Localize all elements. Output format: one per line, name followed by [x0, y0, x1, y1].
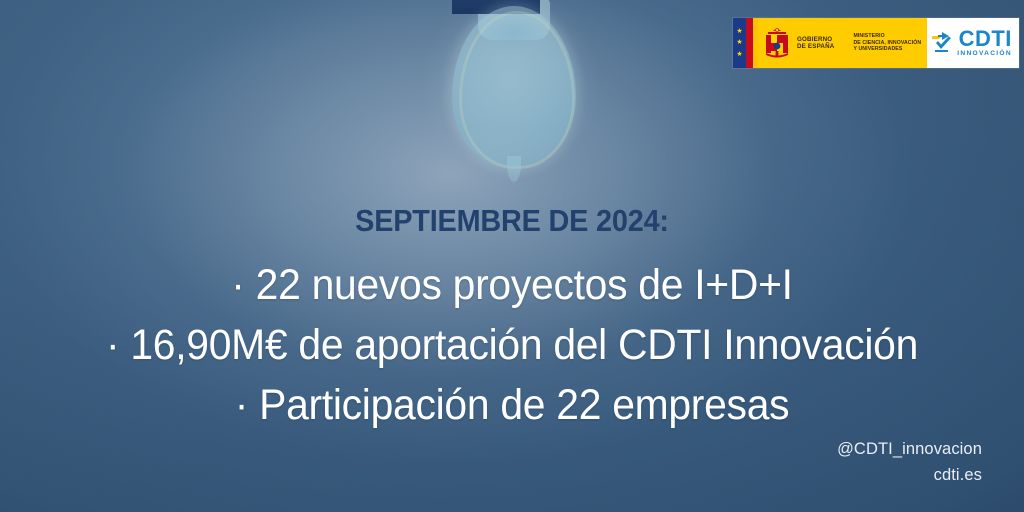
- cdti-logo: CDTI INNOVACIÓN: [927, 18, 1019, 68]
- gobierno-panel: GOBIERNO DE ESPAÑA MINISTERIO DE CIENCIA…: [758, 18, 927, 68]
- gobierno-line-2: DE ESPAÑA: [797, 43, 834, 50]
- ministerio-line-3: Y UNIVERSIDADES: [853, 46, 921, 53]
- highlights-list: · 22 nuevos proyectos de I+D+I · 16,90M€…: [0, 255, 1024, 435]
- page-title: SEPTIEMBRE DE 2024:: [36, 203, 988, 239]
- gobierno-line-1: GOBIERNO: [797, 36, 834, 43]
- list-item: · Participación de 22 empresas: [26, 375, 999, 435]
- eu-star-icon: ★: [736, 29, 742, 35]
- institutional-logo: ★ ★ ★: [733, 18, 1019, 68]
- website-url: cdti.es: [837, 462, 982, 488]
- footer-contact: @CDTI_innovacion cdti.es: [837, 436, 982, 488]
- ministerio-label: MINISTERIO DE CIENCIA, INNOVACIÓN Y UNIV…: [853, 33, 921, 53]
- spain-coat-of-arms-icon: [762, 26, 792, 60]
- social-handle: @CDTI_innovacion: [837, 436, 982, 462]
- eu-flag-icon: ★ ★ ★: [733, 18, 746, 68]
- cdti-wordmark: CDTI INNOVACIÓN: [957, 28, 1012, 58]
- cdti-name: CDTI: [959, 28, 1012, 50]
- eu-star-icon: ★: [736, 52, 742, 58]
- list-item: · 16,90M€ de aportación del CDTI Innovac…: [26, 315, 999, 375]
- spain-flag-red-stripe: [746, 18, 753, 68]
- cdti-checkmark-icon: [932, 31, 954, 55]
- list-item: · 22 nuevos proyectos de I+D+I: [26, 255, 999, 315]
- cdti-tagline: INNOVACIÓN: [957, 51, 1012, 58]
- promo-card: ★ ★ ★: [0, 0, 1024, 512]
- gobierno-label: GOBIERNO DE ESPAÑA: [797, 36, 834, 51]
- ministerio-line-2: DE CIENCIA, INNOVACIÓN: [853, 40, 921, 47]
- eu-star-icon: ★: [736, 40, 742, 46]
- ministerio-line-1: MINISTERIO: [853, 33, 921, 40]
